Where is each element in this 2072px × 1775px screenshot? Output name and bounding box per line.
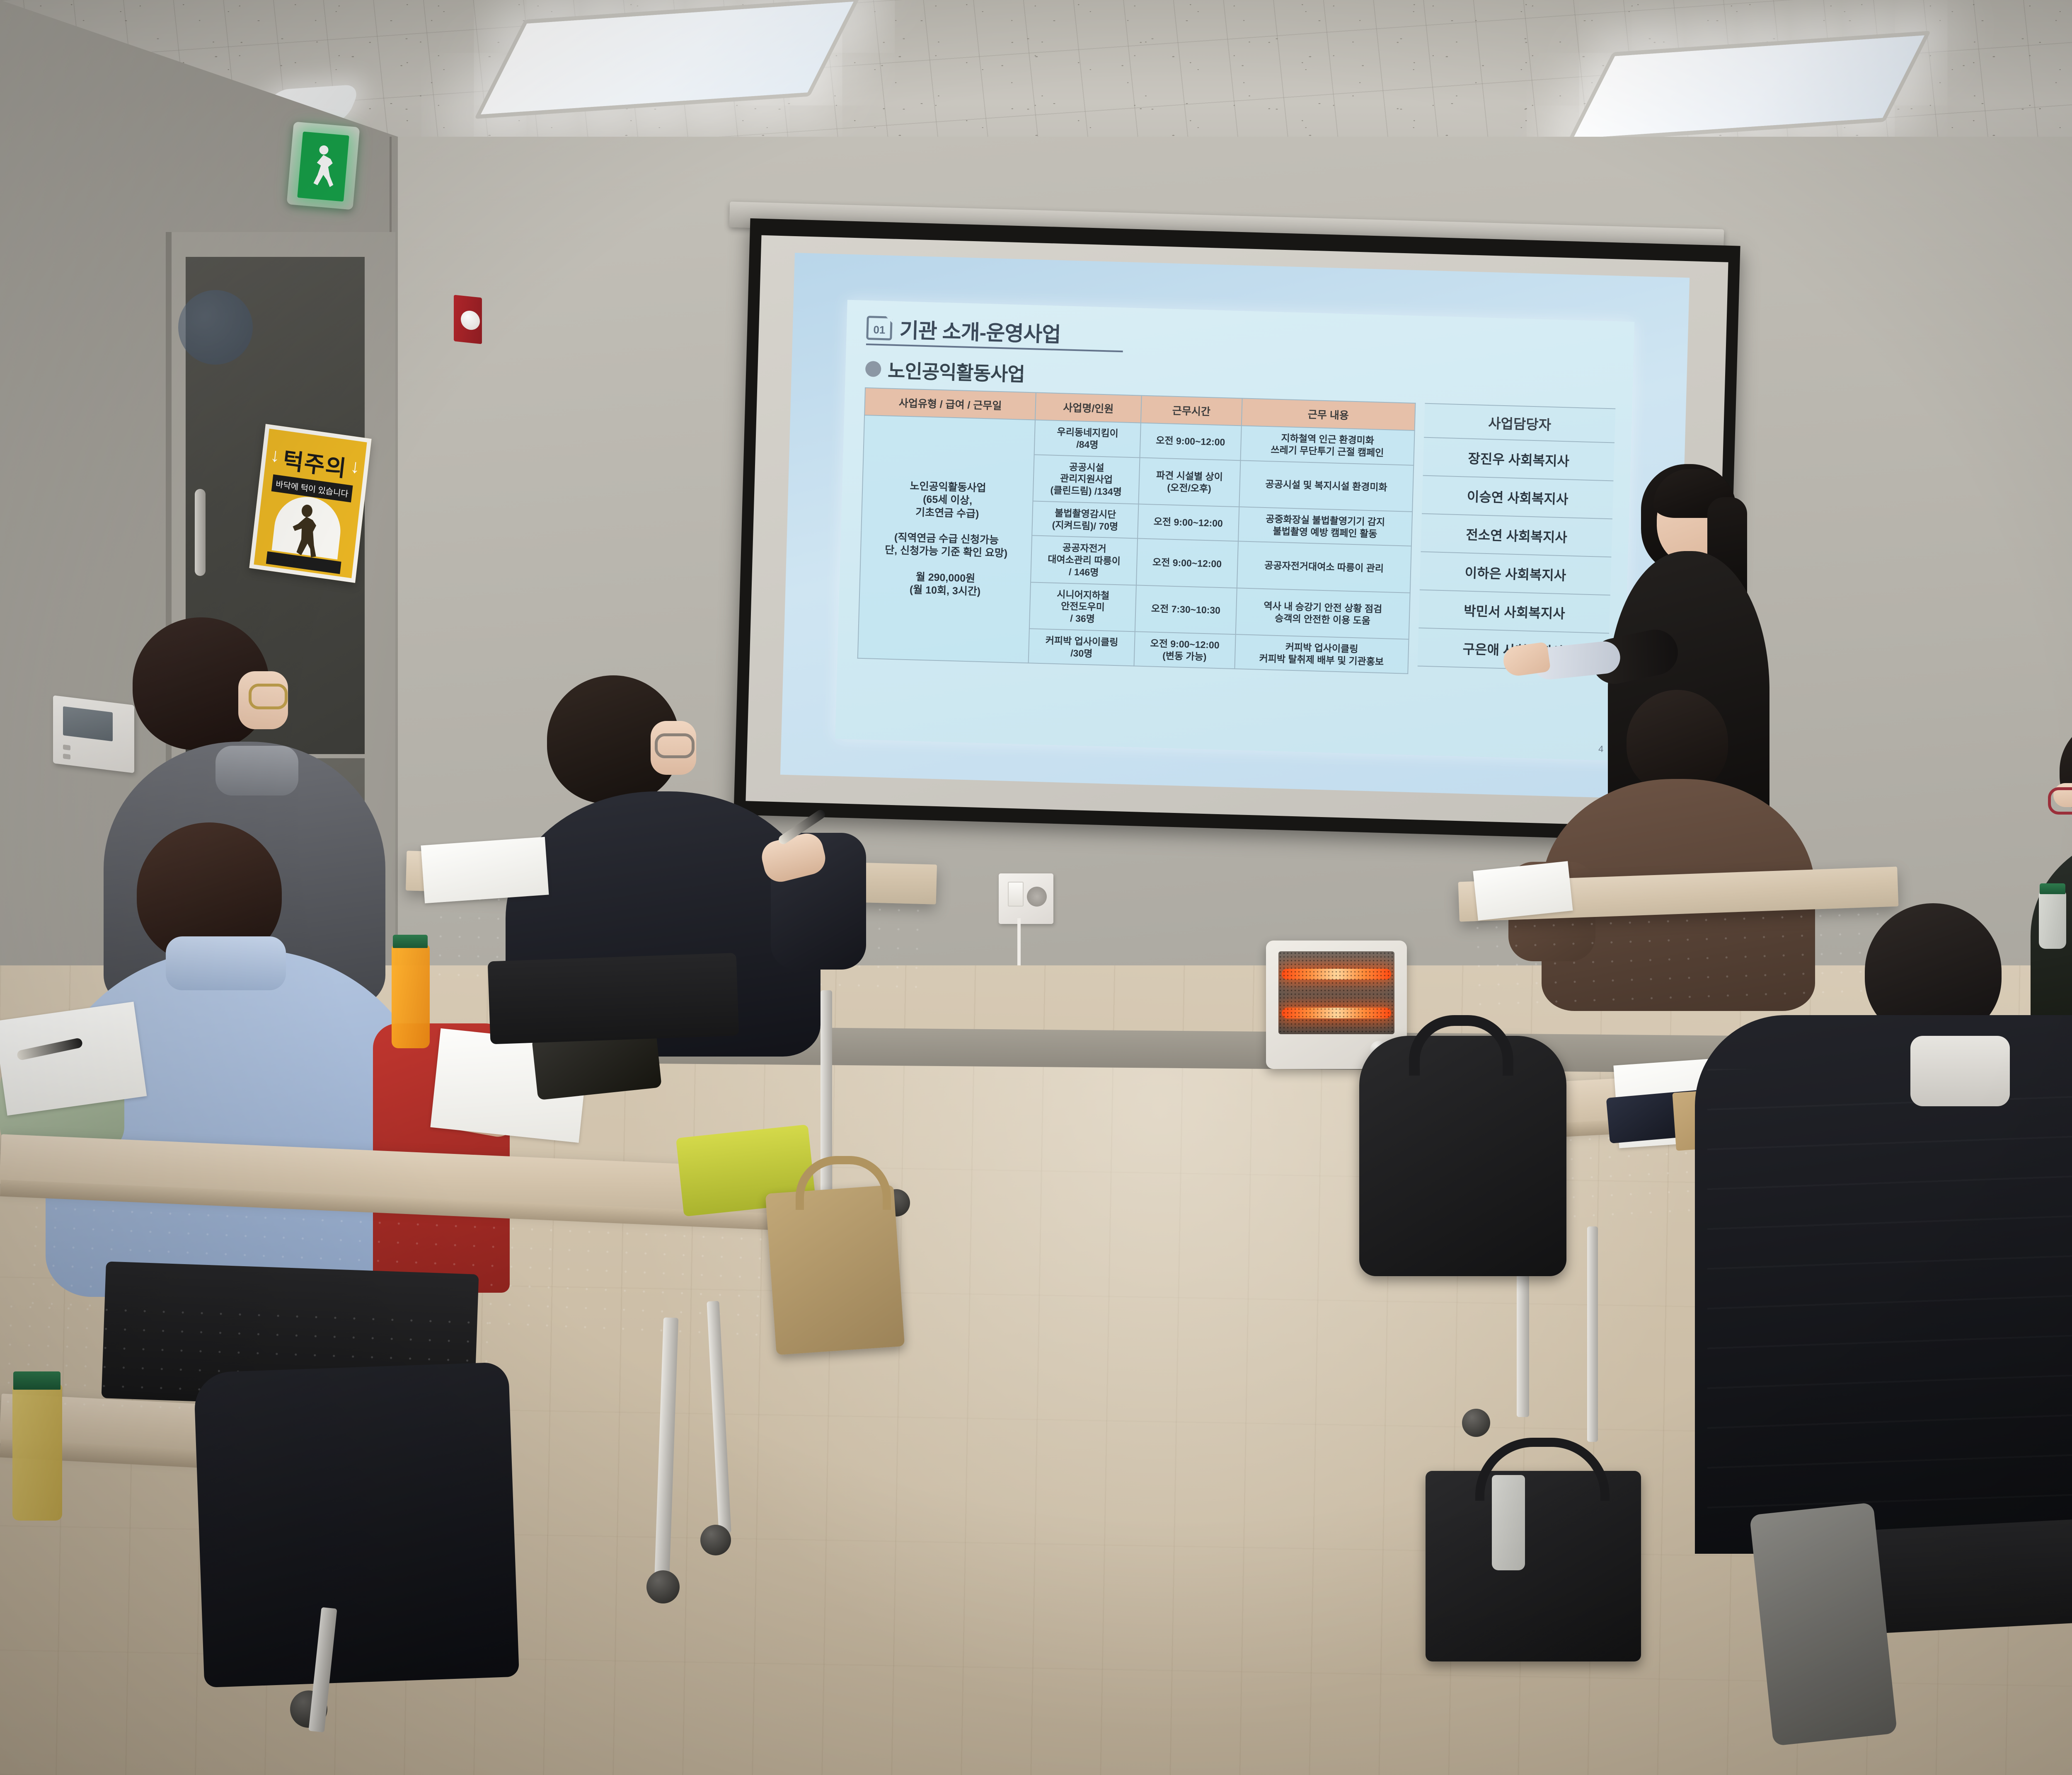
thermostat-button-1[interactable] xyxy=(63,745,70,750)
chair-armrest-foreground-right xyxy=(1750,1502,1898,1746)
program-table: 사업유형 / 급여 / 근무일사업명/인원근무시간근무 내용 노인공익활동사업(… xyxy=(857,387,1416,674)
staff-name-cell: 이승연 사회복지사 xyxy=(1422,476,1613,519)
program-name-cell: 커피박 업사이클링/30명 xyxy=(1029,629,1135,666)
vest-collar-left-front xyxy=(166,936,286,990)
handout-left-mid[interactable] xyxy=(421,837,549,904)
work-hours-cell: 오전 7:30~10:30 xyxy=(1135,585,1237,634)
staff-row: 이하은 사회복지사 xyxy=(1420,552,1611,595)
eyeglasses-left-back xyxy=(249,684,288,709)
work-hours-cell: 오전 9:00~12:00(변동 가능) xyxy=(1134,631,1235,669)
work-hours-cell: 파견 시설별 상이(오전/오후) xyxy=(1138,457,1240,507)
tan-handbag[interactable] xyxy=(765,1185,905,1355)
water-bottle-back-right[interactable] xyxy=(2039,891,2066,949)
bottle-cap-orange-juice xyxy=(393,935,428,948)
door-handle[interactable] xyxy=(195,489,206,576)
running-person-icon xyxy=(308,142,339,191)
power-socket[interactable] xyxy=(1027,887,1047,907)
program-name-cell: 공공자전거대여소관리 따릉이/ 146명 xyxy=(1031,536,1137,585)
staff-row: 전소연 사회복지사 xyxy=(1421,514,1612,557)
table-header-1: 사업명/인원 xyxy=(1035,392,1141,423)
staff-row: 박민서 사회복지사 xyxy=(1418,590,1610,634)
orange-juice-bottle[interactable] xyxy=(392,945,430,1048)
work-hours-cell: 오전 9:00~12:00 xyxy=(1140,423,1241,460)
duties-cell: 역사 내 승강기 안전 상황 점검승객의 안전한 이용 도움 xyxy=(1235,588,1410,639)
slide-title: 기관 소개-운영사업 xyxy=(899,314,1061,348)
program-name-cell: 불법촬영감시단(지켜드림)/ 70명 xyxy=(1032,501,1139,539)
desk-caster-left-front-b xyxy=(700,1525,731,1555)
coat-draped-on-chair xyxy=(194,1362,519,1688)
heater-grill xyxy=(1278,951,1394,1034)
table-header-2: 근무시간 xyxy=(1141,396,1242,426)
desk-caster-left-front xyxy=(646,1570,680,1603)
projected-image-area: 01 기관 소개-운영사업 노인공익활동사업 사업유형 / 급여 / 근무일사업… xyxy=(780,253,1690,800)
program-name-cell: 우리동네지킴이/84명 xyxy=(1034,420,1141,457)
handout-front-right[interactable] xyxy=(1473,861,1573,920)
eyeglasses-back-right xyxy=(2048,787,2072,815)
work-hours-cell: 오전 9:00~12:00 xyxy=(1138,504,1239,541)
desk-modesty-panel-front-right xyxy=(1468,904,1885,1006)
seminar-room-photo: ↓ ↓ 턱주의 바닥에 턱이 있습니다 01 기관 소개-운영사업 노인공익활동… xyxy=(0,0,2072,1775)
heater-mesh-screen xyxy=(1278,951,1394,1034)
desk-leg-mid-right-b xyxy=(1587,1226,1598,1442)
staff-row: 장진우 사회복지사 xyxy=(1423,438,1615,481)
staff-row: 이승연 사회복지사 xyxy=(1422,476,1613,519)
program-type-cell: 노인공익활동사업(65세 이상,기초연금 수급)(직역연금 수급 신청가능단, … xyxy=(858,415,1036,663)
slide-page-number: 4 xyxy=(1598,744,1604,754)
desk-caster-mid-right xyxy=(1462,1409,1490,1437)
table-header-3: 근무 내용 xyxy=(1241,398,1415,430)
bottle-cap-back-right xyxy=(2040,883,2065,894)
table-header-0: 사업유형 / 급여 / 근무일 xyxy=(864,388,1036,420)
duties-cell: 지하철역 인근 환경미화쓰레기 무단투기 근절 캠페인 xyxy=(1240,426,1415,465)
staff-table: 사업담당자 장진우 사회복지사이승연 사회복지사전소연 사회복지사이하은 사회복… xyxy=(1418,403,1616,672)
duties-cell: 커피박 업사이클링커피박 탈취제 배부 및 기관홍보 xyxy=(1234,634,1409,674)
work-hours-cell: 오전 9:00~12:00 xyxy=(1136,539,1238,588)
thermostat-button-2[interactable] xyxy=(63,754,70,759)
duties-cell: 공중화장실 불법촬영기기 감지불법촬영 예방 캠페인 활동 xyxy=(1238,507,1413,546)
slide-title-group: 01 기관 소개-운영사업 xyxy=(866,313,1061,348)
presentation-slide: 01 기관 소개-운영사업 노인공익활동사업 사업유형 / 급여 / 근무일사업… xyxy=(835,300,1634,761)
staff-column-header: 사업담당자 xyxy=(1424,404,1615,443)
thermostat-display xyxy=(63,706,113,742)
chair-back-left-mid[interactable] xyxy=(488,953,739,1045)
step-warning-poster: ↓ ↓ 턱주의 바닥에 턱이 있습니다 xyxy=(249,424,371,583)
program-name-cell: 공공시설관리지원사업(클린드림) /134명 xyxy=(1033,455,1140,504)
tea-bottle-foreground-left[interactable] xyxy=(12,1384,62,1521)
staff-name-cell: 이하은 사회복지사 xyxy=(1420,552,1611,595)
bottle-cap-tea xyxy=(13,1371,61,1390)
slide-subtitle-group: 노인공익활동사업 xyxy=(865,355,1025,387)
door-glass-reflection xyxy=(178,290,253,365)
vest-inner-collar xyxy=(1910,1036,2010,1106)
coat-collar-left-back xyxy=(215,746,298,796)
bullet-dot-icon xyxy=(865,361,881,377)
program-name-cell: 시니어지하철안전도우미/ 36명 xyxy=(1029,582,1136,631)
staff-name-cell: 장진우 사회복지사 xyxy=(1423,438,1615,481)
bottle-in-bag[interactable] xyxy=(1492,1475,1525,1570)
duties-cell: 공공시설 및 복지시설 환경미화 xyxy=(1239,460,1414,512)
slide-subtitle: 노인공익활동사업 xyxy=(887,355,1025,387)
staff-name-cell: 박민서 사회복지사 xyxy=(1418,590,1610,634)
duties-cell: 공공자전거대여소 따릉이 관리 xyxy=(1237,541,1411,592)
eyeglasses-left-mid xyxy=(655,733,695,758)
folder-badge-icon: 01 xyxy=(866,316,893,341)
wall-light-switch[interactable] xyxy=(1008,882,1024,907)
attendee-head-front-right xyxy=(1627,690,1728,793)
staff-name-cell: 전소연 사회복지사 xyxy=(1421,514,1612,557)
puffer-vest-quilting xyxy=(1707,1069,2072,1541)
